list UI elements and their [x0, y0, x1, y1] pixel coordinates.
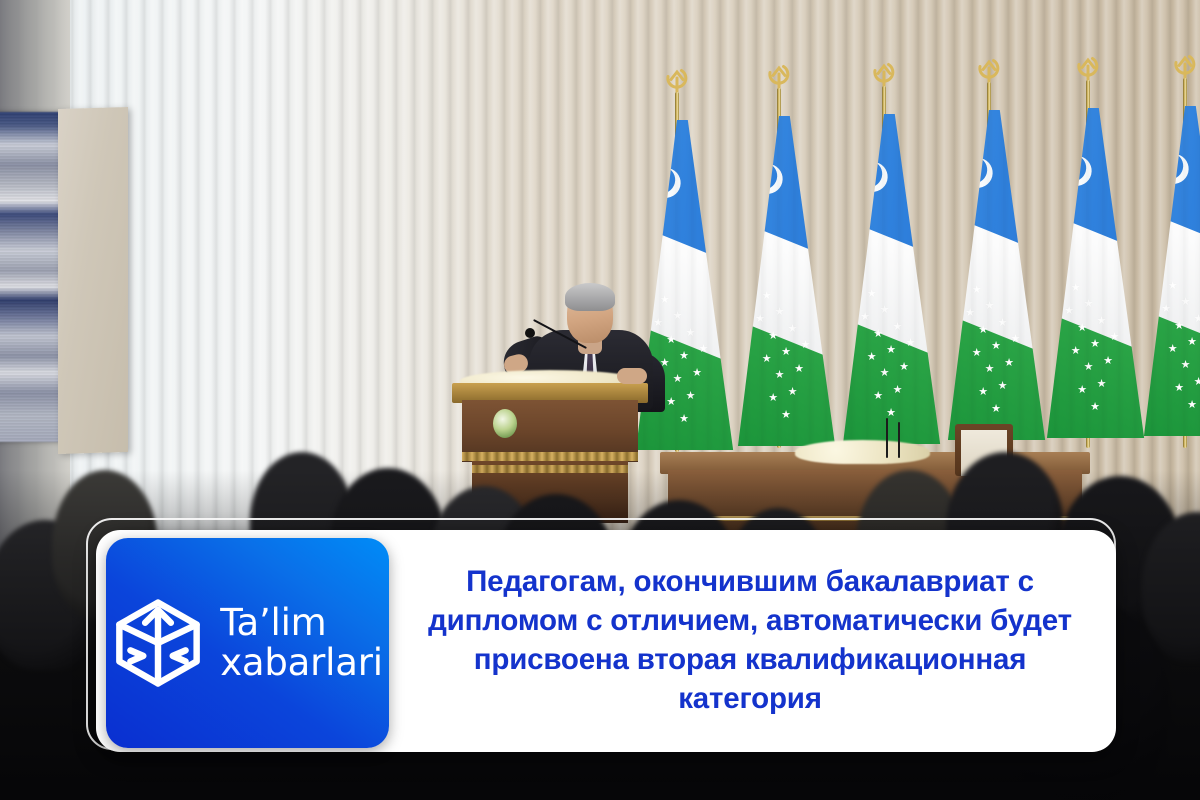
- rostrum-gold-band: [462, 452, 638, 461]
- screenshot-root: ★★★★★★★★★★★★★★★★★★★★★★★★★★★★★★★★★★★★★★★★…: [0, 0, 1200, 800]
- flag-banner: ★★★★★★★★★★★★★★: [1135, 106, 1200, 436]
- speaker-hair: [565, 283, 615, 311]
- podium-microphone-head: [525, 328, 535, 338]
- caption-headline: Педагогам, окончившим бакалавриат с дипл…: [400, 540, 1100, 740]
- brand-logo-badge[interactable]: Ta’lim xabarlari: [106, 538, 389, 748]
- flag-fold-shading: [1135, 106, 1200, 436]
- flag-star: ★: [1155, 264, 1165, 275]
- led-screen: [0, 112, 60, 442]
- flag-star: ★: [1058, 266, 1068, 277]
- state-emblem-icon: [493, 409, 517, 438]
- flag-star: ★: [647, 278, 657, 289]
- brand-name-line2: xabarlari: [220, 643, 383, 683]
- brand-wordmark: Ta’lim xabarlari: [220, 603, 383, 683]
- brand-name-line1: Ta’lim: [220, 603, 383, 643]
- table-microphone-1: [886, 418, 888, 458]
- speaker-right-hand: [617, 368, 647, 384]
- screen-side-panel: [58, 107, 128, 454]
- led-scanlines: [0, 112, 60, 442]
- flag-star: ★: [959, 268, 969, 279]
- flag-star: ★: [854, 272, 864, 283]
- uzbekistan-flag-6: ★★★★★★★★★★★★★★: [1118, 78, 1200, 448]
- cube-outline-icon: [112, 597, 204, 689]
- flag-star: ★: [749, 274, 759, 285]
- table-microphone-2: [898, 422, 900, 458]
- table-flower-arrangement: [795, 440, 930, 464]
